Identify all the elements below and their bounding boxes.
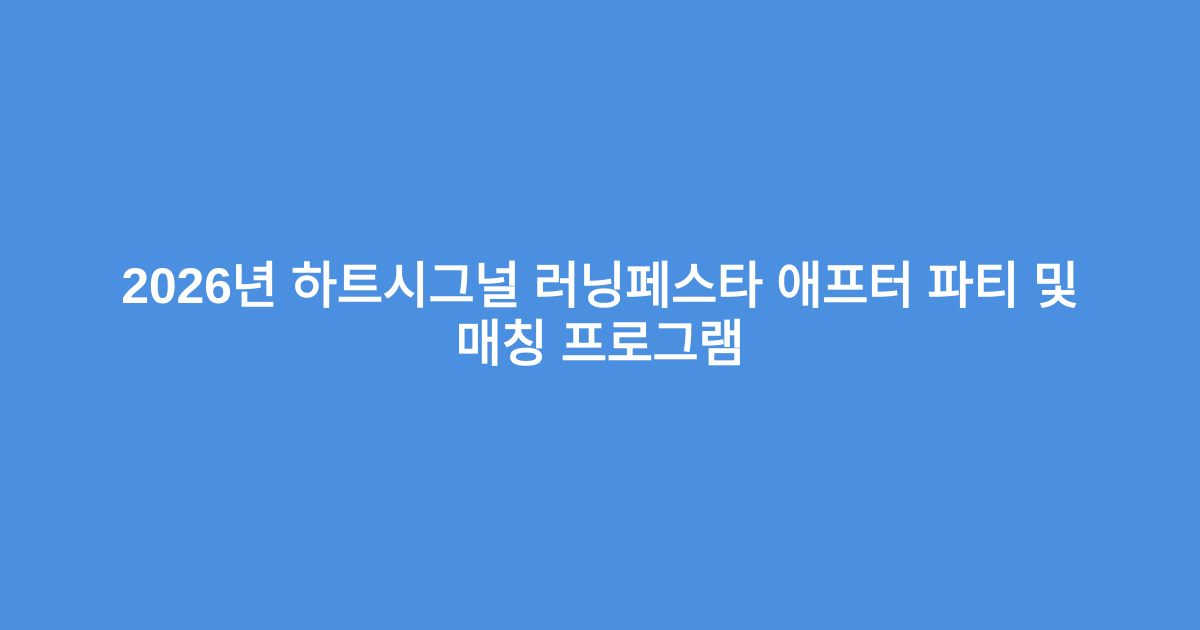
share-card-content: 2026년 하트시그널 러닝페스타 애프터 파티 및 매칭 프로그램 [0, 257, 1200, 373]
share-card: 2026년 하트시그널 러닝페스타 애프터 파티 및 매칭 프로그램 [0, 0, 1200, 630]
page-title: 2026년 하트시그널 러닝페스타 애프터 파티 및 매칭 프로그램 [80, 257, 1120, 373]
